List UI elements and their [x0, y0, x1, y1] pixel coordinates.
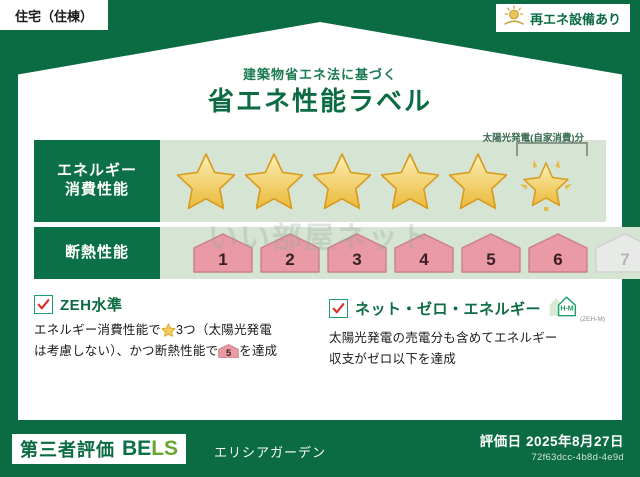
note-net-zero: ネット・ゼロ・エネルギー H-M (ZEH-M) — [329, 294, 614, 369]
renewable-badge-label: 再エネ設備あり — [530, 9, 621, 28]
page-title: 省エネ性能ラベル — [18, 81, 622, 118]
evaluation-id: 72f63dcc-4b8d-4e9d — [480, 452, 624, 463]
insulation-rating-value: 1 2 3 4 — [160, 227, 640, 279]
insulation-label-text: 断熱性能 — [65, 244, 129, 263]
star-icon — [446, 151, 510, 211]
house-icon: 4 — [393, 232, 455, 274]
solar-star-icon — [514, 151, 578, 211]
note-zeh-text-2: は考慮しない）、かつ断熱性能で — [34, 344, 218, 358]
zeh-m-badge-caption: (ZEH-M) — [580, 316, 605, 323]
bels-certification-mark: 第三者評価 BELS — [12, 434, 186, 464]
insulation-performance-label: 断熱性能 — [34, 227, 160, 279]
star-rating — [160, 151, 578, 211]
insulation-level-number: 3 — [326, 250, 388, 270]
energy-performance-label: 住宅（住棟） 再エネ設備あり 建築物省エネ法に基づく 省エネ性能ラベル — [0, 0, 640, 477]
note-zeh-text-star: 3つ（太陽光発電 — [176, 323, 272, 337]
star-icon — [174, 151, 238, 211]
achievement-notes: ZEH水準 エネルギー消費性能で3つ（太陽光発電 は考慮しない）、かつ断熱性能で… — [34, 294, 614, 369]
note-zeh: ZEH水準 エネルギー消費性能で3つ（太陽光発電 は考慮しない）、かつ断熱性能で… — [34, 294, 319, 369]
zeh-m-badge: H-M (ZEH-M) — [548, 294, 605, 323]
building-name: エリシアガーデン — [214, 442, 326, 461]
star-icon — [242, 151, 306, 211]
house-icon: 2 — [259, 232, 321, 274]
note-zeh-text-1: エネルギー消費性能で — [34, 323, 161, 337]
note-net-zero-body: 太陽光発電の売電分も含めてエネルギー 収支がゼロ以下を達成 — [329, 328, 614, 369]
renewable-equipment-badge: 再エネ設備あり — [496, 4, 630, 32]
note-net-zero-line1: 太陽光発電の売電分も含めてエネルギー — [329, 331, 558, 345]
solar-portion-bracket: 太陽光発電(自家消費)分 — [516, 142, 588, 156]
house-icon: 1 — [192, 232, 254, 274]
sun-icon — [502, 5, 526, 32]
house-icon: 3 — [326, 232, 388, 274]
energy-rating-value: 太陽光発電(自家消費)分 — [160, 140, 606, 222]
star-icon-inline — [161, 323, 176, 338]
insulation-level-number: 7 — [594, 250, 640, 270]
energy-label-line1: エネルギー — [57, 162, 137, 181]
evaluation-info: 評価日 2025年8月27日 72f63dcc-4b8d-4e9d — [480, 430, 624, 463]
star-icon — [378, 151, 442, 211]
energy-label-line2: 消費性能 — [65, 181, 129, 200]
insulation-performance-row: 断熱性能 1 2 3 — [34, 227, 606, 279]
bels-logo-part1: BE — [122, 437, 151, 460]
insulation-level-number: 6 — [527, 250, 589, 270]
zeh-m-house-icon: H-M — [548, 294, 578, 323]
evaluation-date: 評価日 2025年8月27日 — [480, 430, 624, 450]
third-party-evaluation-label: 第三者評価 — [20, 436, 115, 462]
house-icon-inline: 5 — [218, 343, 239, 359]
insulation-level-number: 4 — [393, 250, 455, 270]
house-type-tag: 住宅（住棟） — [0, 0, 108, 30]
label-footer: 第三者評価 BELS エリシアガーデン 評価日 2025年8月27日 72f63… — [0, 420, 640, 477]
note-zeh-text-3: を達成 — [239, 344, 277, 358]
zeh-m-badge-text: H-M — [560, 305, 573, 312]
star-icon — [310, 151, 374, 211]
house-type-tag-label: 住宅（住棟） — [15, 6, 93, 25]
solar-portion-caption: 太陽光発電(自家消費)分 — [483, 130, 584, 144]
note-zeh-title: ZEH水準 — [60, 294, 123, 315]
energy-performance-label: エネルギー 消費性能 — [34, 140, 160, 222]
bels-logo-part2: LS — [151, 437, 178, 460]
bels-logo: BELS — [122, 437, 178, 461]
note-net-zero-line2: 収支がゼロ以下を達成 — [329, 352, 456, 366]
insulation-level-scale: 1 2 3 4 — [160, 232, 640, 274]
insulation-level-number: 1 — [192, 250, 254, 270]
checkmark-icon — [329, 299, 348, 318]
label-panel: 建築物省エネ法に基づく 省エネ性能ラベル エネルギー 消費性能 — [18, 22, 622, 420]
note-zeh-body: エネルギー消費性能で3つ（太陽光発電 は考慮しない）、かつ断熱性能で5を達成 — [34, 320, 319, 361]
house-icon-inactive: 7 — [594, 232, 640, 274]
house-icon: 6 — [527, 232, 589, 274]
insulation-level-number: 2 — [259, 250, 321, 270]
energy-performance-row: エネルギー 消費性能 — [34, 140, 606, 222]
insulation-level-number: 5 — [460, 250, 522, 270]
note-zeh-house-number: 5 — [218, 349, 239, 359]
house-icon: 5 — [460, 232, 522, 274]
checkmark-icon — [34, 295, 53, 314]
note-net-zero-title: ネット・ゼロ・エネルギー — [355, 298, 541, 319]
